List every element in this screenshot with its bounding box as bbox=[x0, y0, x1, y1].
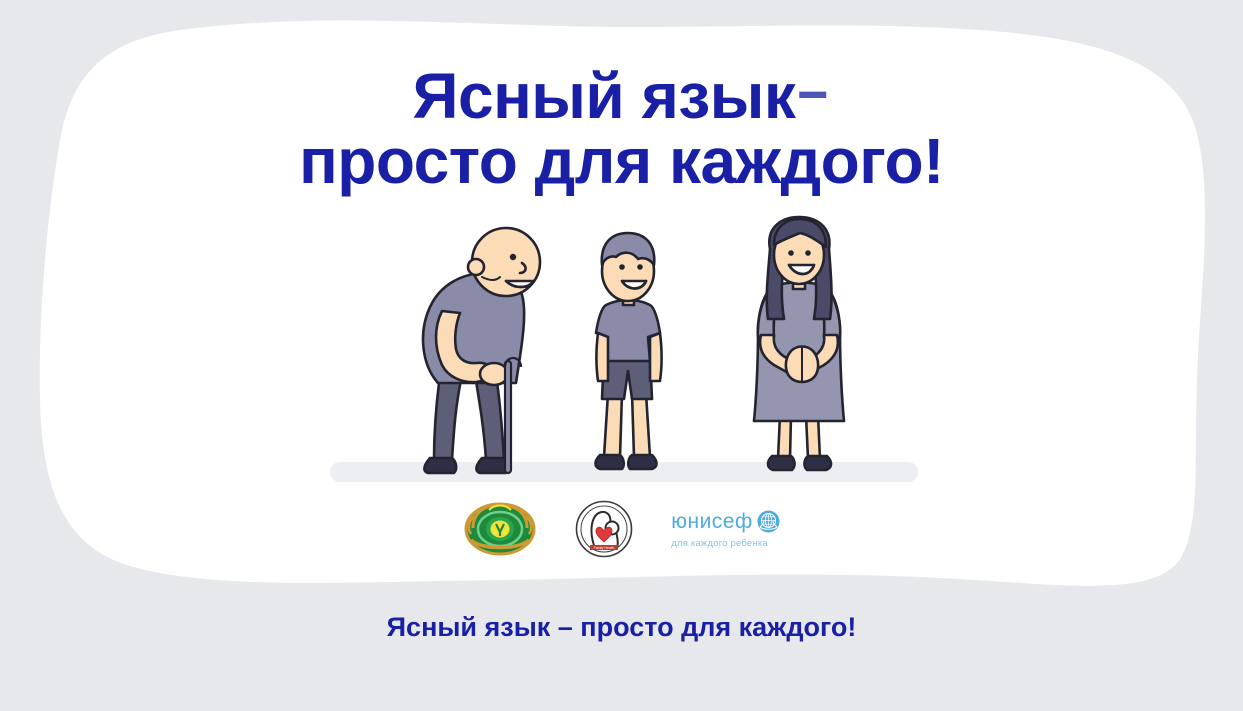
page-title: Ясный язык– просто для каждого! bbox=[0, 66, 1243, 193]
unicef-globe-icon bbox=[757, 510, 780, 533]
illustration-three-people bbox=[330, 215, 930, 490]
logo-row: Family Health юнисеф bbox=[0, 500, 1243, 558]
ministry-of-health-belarus-emblem bbox=[463, 502, 537, 556]
figure-woman bbox=[754, 217, 844, 470]
title-line-1-text: Ясный язык bbox=[413, 60, 796, 132]
ministry-of-health-belarus-logo bbox=[463, 502, 537, 556]
unicef-logo: юнисеф для каждого ребенка bbox=[671, 510, 780, 549]
figure-elderly-man bbox=[423, 228, 540, 473]
svg-text:Family Health: Family Health bbox=[594, 546, 615, 550]
title-dash: – bbox=[798, 60, 828, 121]
title-line-2: просто для каждого! bbox=[0, 131, 1243, 192]
poster-card: Ясный язык– просто для каждого! bbox=[0, 0, 1243, 711]
mother-and-child-emblem: Family Health bbox=[575, 500, 633, 558]
figure-boy bbox=[596, 233, 662, 469]
unicef-wordmark: юнисеф bbox=[671, 511, 753, 532]
poster-stage: Ясный язык– просто для каждого! bbox=[0, 0, 1243, 711]
mother-and-child-logo: Family Health bbox=[575, 500, 633, 558]
unicef-wordmark-row: юнисеф bbox=[671, 510, 780, 533]
poster-caption: Ясный язык – просто для каждого! bbox=[0, 612, 1243, 643]
unicef-tagline: для каждого ребенка bbox=[671, 538, 768, 549]
title-line-1: Ясный язык– bbox=[0, 66, 1243, 127]
